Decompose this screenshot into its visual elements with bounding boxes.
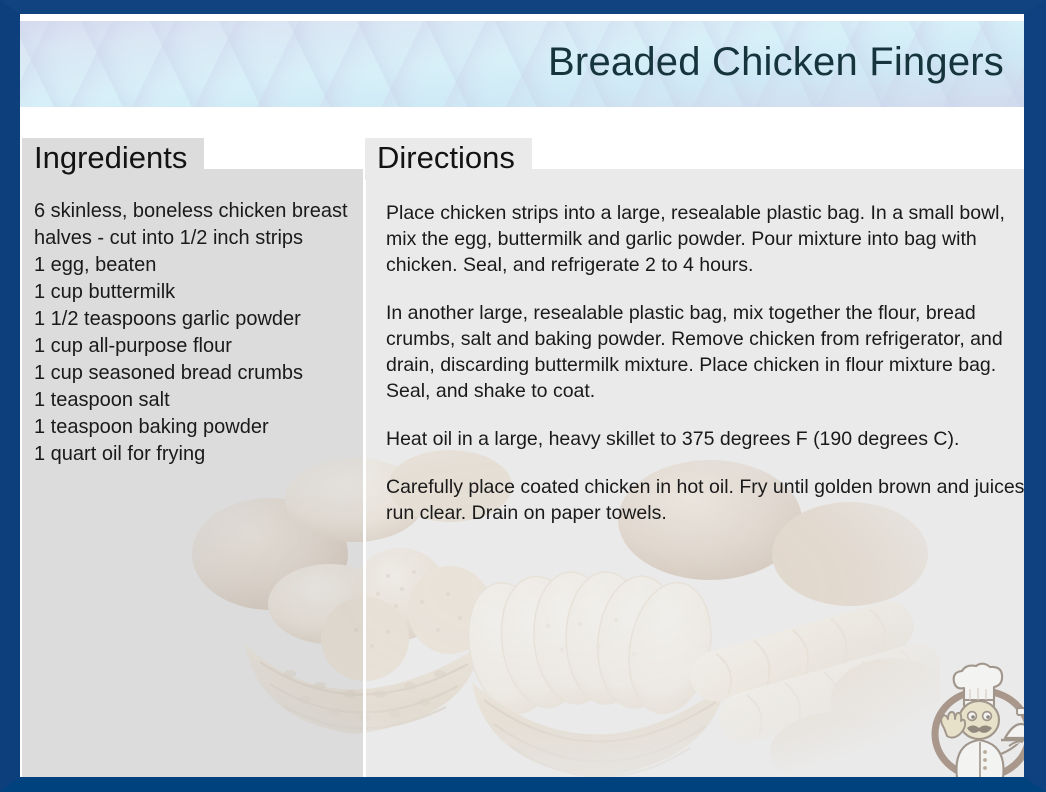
- ingredient-item: 1 teaspoon baking powder: [34, 414, 354, 441]
- direction-step: Heat oil in a large, heavy skillet to 37…: [386, 426, 1024, 452]
- title-banner: Breaded Chicken Fingers: [20, 21, 1024, 107]
- directions-steps: Place chicken strips into a large, resea…: [386, 200, 1024, 526]
- ingredients-tab[interactable]: Ingredients: [22, 138, 204, 180]
- ingredient-item: 1 teaspoon salt: [34, 387, 354, 414]
- direction-step: In another large, resealable plastic bag…: [386, 300, 1024, 404]
- directions-tab[interactable]: Directions: [365, 138, 532, 180]
- ingredient-item: 1 cup seasoned bread crumbs: [34, 360, 354, 387]
- ingredient-item: 1 1/2 teaspoons garlic powder: [34, 306, 354, 333]
- ingredient-item: 1 cup all-purpose flour: [34, 333, 354, 360]
- ingredient-item: 1 quart oil for frying: [34, 441, 354, 468]
- page-title: Breaded Chicken Fingers: [548, 37, 1004, 87]
- ingredient-item: 1 egg, beaten: [34, 252, 354, 279]
- left-margin-strip: [20, 169, 22, 777]
- directions-heading: Directions: [377, 138, 515, 178]
- slide-canvas: Breaded Chicken Fingers: [20, 14, 1024, 777]
- ingredients-list: 6 skinless, boneless chicken breast halv…: [34, 198, 354, 468]
- ingredients-heading: Ingredients: [34, 138, 187, 178]
- ingredient-item: 1 cup buttermilk: [34, 279, 354, 306]
- panel-divider: [363, 169, 366, 777]
- direction-step: Carefully place coated chicken in hot oi…: [386, 474, 1024, 526]
- direction-step: Place chicken strips into a large, resea…: [386, 200, 1024, 278]
- ingredient-item: 6 skinless, boneless chicken breast halv…: [34, 198, 354, 252]
- recipe-slide: Breaded Chicken Fingers: [0, 0, 1046, 792]
